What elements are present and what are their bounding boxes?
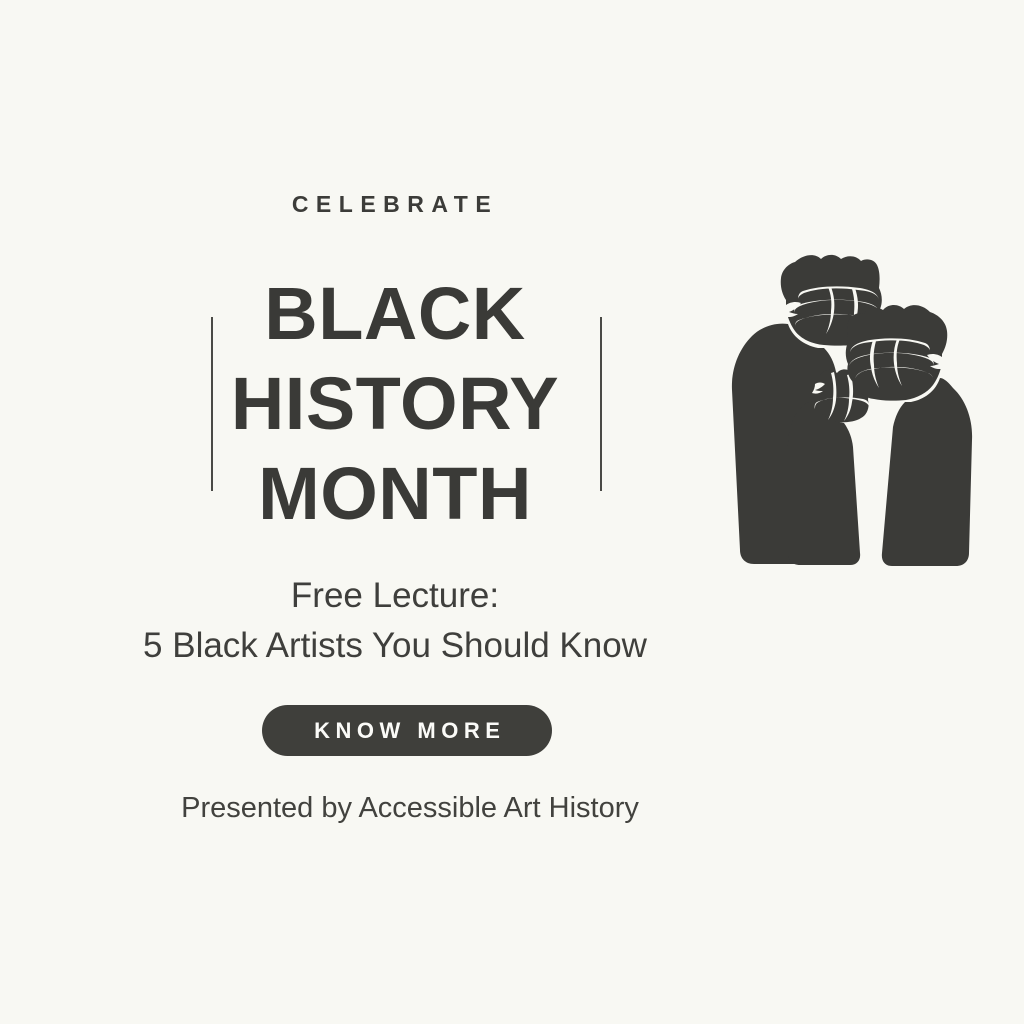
- eyebrow-text: CELEBRATE: [0, 193, 790, 216]
- lecture-title: 5 Black Artists You Should Know: [0, 628, 790, 663]
- three-raised-fists-illustration: [700, 250, 980, 575]
- black-history-month-poster: CELEBRATE BLACK HISTORY MONTH Free Lectu…: [0, 0, 1024, 1024]
- headline-line-month: MONTH: [0, 457, 790, 531]
- headline-line-black: BLACK: [0, 277, 790, 351]
- lecture-label: Free Lecture:: [0, 578, 790, 613]
- know-more-button[interactable]: KNOW MORE: [262, 705, 552, 756]
- headline-line-history: HISTORY: [0, 367, 790, 441]
- presented-by-text: Presented by Accessible Art History: [0, 794, 820, 823]
